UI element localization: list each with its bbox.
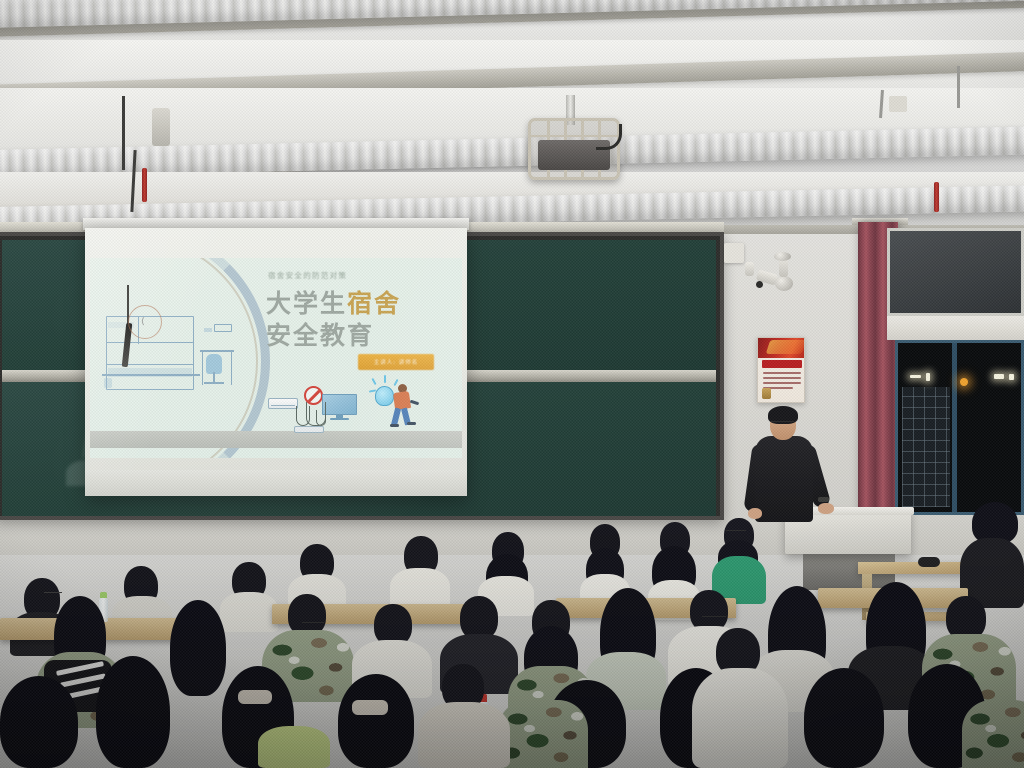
hair-clip — [352, 700, 388, 715]
student-hair-long — [96, 656, 170, 768]
presenter-torso — [755, 436, 813, 522]
slide-ground-band — [90, 431, 462, 448]
glasses-icon — [726, 530, 746, 533]
desk-object — [918, 557, 940, 567]
poster-seal — [762, 388, 771, 399]
main-window — [895, 340, 1024, 515]
sprinkler-pipe — [934, 182, 939, 212]
poster-header-banner — [758, 338, 805, 358]
presenter-right-hand — [818, 503, 834, 514]
slide-presenter-badge: 主讲人: 讲师名 — [358, 354, 434, 370]
glasses-icon — [702, 616, 726, 619]
speaker-icon — [774, 252, 791, 261]
student-hair-long — [0, 676, 78, 768]
student-hair-long — [170, 600, 226, 696]
student-torso — [220, 592, 278, 632]
poster-calligraphy — [766, 340, 805, 354]
presentation-slide: 宿舍安全的防范对策 大学生宿舍 安全教育 主讲人: 讲师名 — [90, 258, 462, 458]
exterior-light — [994, 374, 1004, 379]
student-hair-long — [338, 674, 414, 768]
student-camo-uniform — [498, 700, 588, 768]
light-bulb-illustration — [375, 386, 394, 406]
window-exterior-grill — [902, 387, 950, 507]
slide-ring-marker — [128, 305, 162, 339]
lecture-hall-photo: 宿舍安全的防范对策 大学生宿舍 安全教育 主讲人: 讲师名 ⟨ — [0, 0, 1024, 768]
student-torso — [418, 702, 510, 768]
glasses-icon — [44, 592, 62, 595]
power-strip-illustration — [294, 426, 324, 433]
slide-title-part-gold: 宿舍 — [347, 289, 401, 318]
student-hair-long — [804, 668, 884, 768]
duct-hanger — [122, 96, 125, 170]
exterior-light — [926, 373, 930, 381]
sprinkler-pipe — [142, 168, 147, 202]
projection-screen: 宿舍安全的防范对策 大学生宿舍 安全教育 主讲人: 讲师名 — [85, 228, 467, 496]
window-header-band — [887, 316, 1024, 340]
exterior-light — [960, 378, 968, 386]
wall-poster — [757, 337, 805, 403]
camera-mount — [724, 243, 744, 263]
exterior-light — [1009, 374, 1014, 380]
slide-title-line1: 大学生宿舍 — [266, 284, 401, 320]
student-camo-uniform — [962, 700, 1024, 768]
slide-subtitle: 宿舍安全的防范对策 — [268, 270, 347, 281]
desk-chair-illustration — [206, 354, 222, 374]
camera-lens-icon — [756, 281, 763, 288]
hair-clip — [238, 690, 272, 704]
study-desk-illustration — [200, 350, 234, 352]
duct-hanger — [957, 66, 960, 108]
presenter-left-hand — [748, 508, 762, 519]
wristwatch-icon — [818, 497, 829, 502]
student-torso — [692, 668, 788, 768]
slide-title-part-gray: 大学生 — [266, 289, 347, 318]
exterior-light — [910, 375, 921, 378]
chevron-left-icon: ⟨ — [141, 317, 145, 327]
screen-bottom-bar — [85, 470, 467, 496]
monitor-illustration — [322, 394, 357, 415]
student-torso-yellowgreen — [258, 726, 330, 768]
ceiling — [0, 0, 1024, 232]
slide-title-line2: 安全教育 — [266, 316, 374, 352]
glasses-icon — [771, 421, 794, 425]
air-conditioner-illustration — [268, 398, 298, 409]
camera-arm — [745, 262, 754, 276]
dome-camera-icon — [775, 276, 793, 291]
glasses-icon — [302, 622, 324, 625]
transom-window — [887, 228, 1024, 316]
poster-subtitle-bar — [762, 360, 802, 368]
